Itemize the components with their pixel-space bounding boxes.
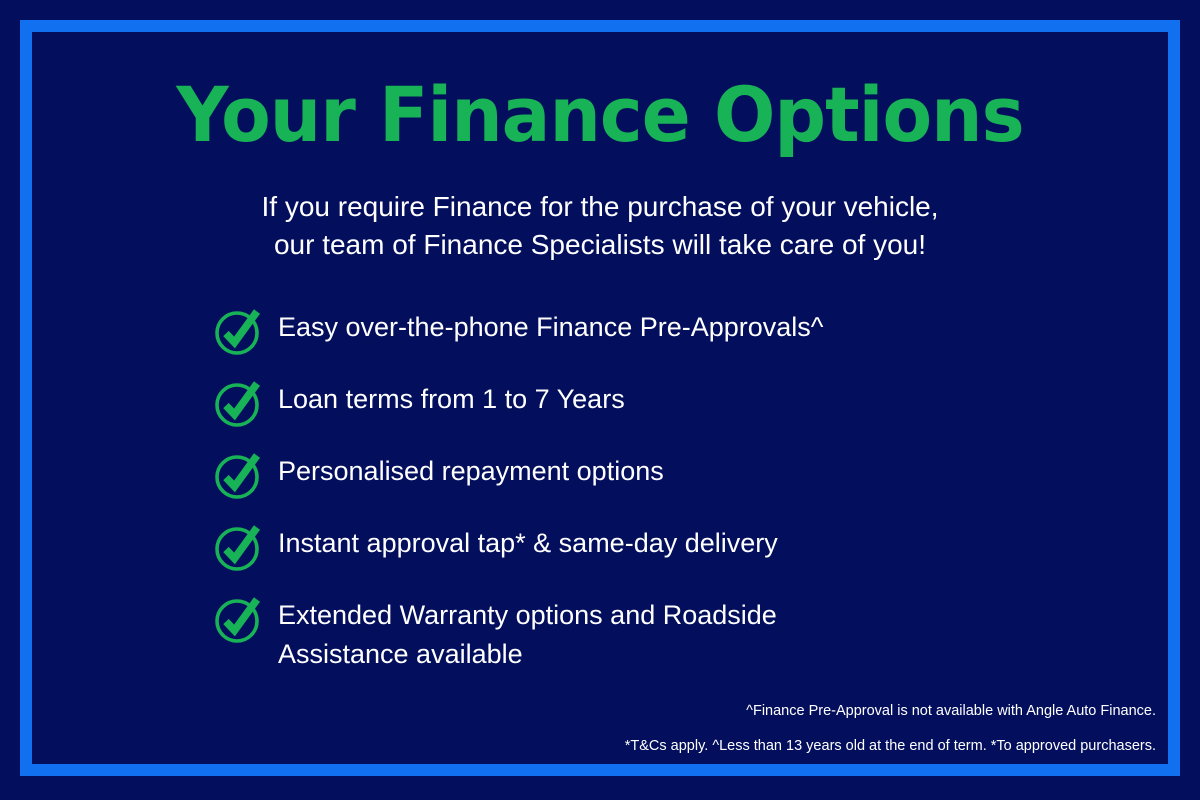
subtitle: If you require Finance for the purchase … [0,188,1200,264]
banner-content: Your Finance Options If you require Fina… [0,0,1200,800]
green-check-circle-icon [212,592,266,646]
green-check-circle-icon [212,448,266,502]
list-item: Personalised repayment options [212,446,1092,502]
list-item: Loan terms from 1 to 7 Years [212,374,1092,430]
disclaimer-block: ^Finance Pre-Approval is not available w… [625,694,1156,764]
disclaimer-line-2: *T&Cs apply. ^Less than 13 years old at … [625,729,1156,764]
feature-list: Easy over-the-phone Finance Pre-Approval… [212,302,1092,690]
list-item-text: Instant approval tap* & same-day deliver… [278,518,778,563]
green-check-circle-icon [212,304,266,358]
list-item-text: Easy over-the-phone Finance Pre-Approval… [278,302,823,347]
green-check-circle-icon [212,520,266,574]
subtitle-line-2: our team of Finance Specialists will tak… [0,226,1200,264]
subtitle-line-1: If you require Finance for the purchase … [0,188,1200,226]
list-item-line: Extended Warranty options and Roadside [278,596,777,635]
page-title: Your Finance Options [30,72,1170,158]
list-item: Easy over-the-phone Finance Pre-Approval… [212,302,1092,358]
disclaimer-line-1: ^Finance Pre-Approval is not available w… [625,694,1156,729]
list-item-text: Loan terms from 1 to 7 Years [278,374,625,419]
green-check-circle-icon [212,376,266,430]
list-item: Instant approval tap* & same-day deliver… [212,518,1092,574]
list-item-line: Assistance available [278,635,777,674]
list-item-line: Loan terms from 1 to 7 Years [278,380,625,419]
list-item-text: Personalised repayment options [278,446,664,491]
list-item-text: Extended Warranty options and Roadside A… [278,590,777,674]
list-item-line: Easy over-the-phone Finance Pre-Approval… [278,308,823,347]
list-item-line: Instant approval tap* & same-day deliver… [278,524,778,563]
list-item-line: Personalised repayment options [278,452,664,491]
finance-options-banner: Your Finance Options If you require Fina… [0,0,1200,800]
list-item: Extended Warranty options and Roadside A… [212,590,1092,674]
